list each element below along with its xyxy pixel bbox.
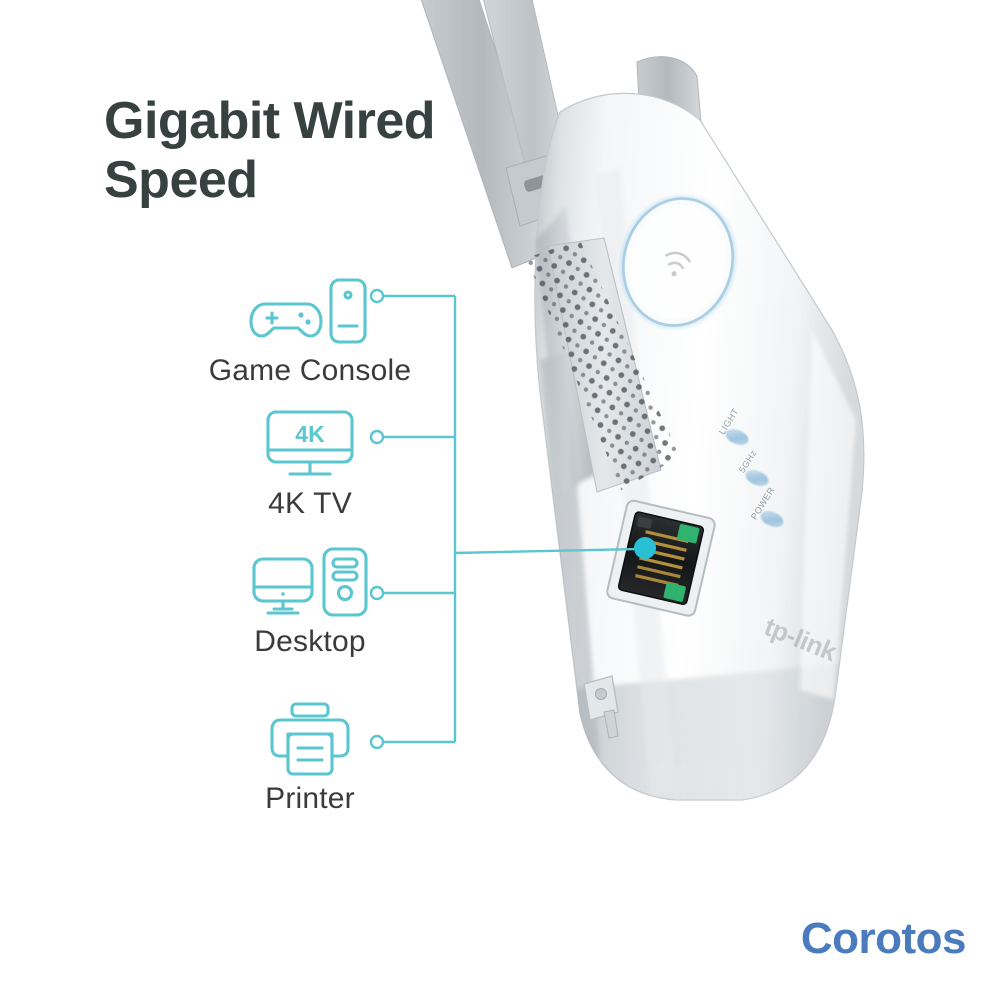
tv-screen-text: 4K [295, 421, 325, 447]
device-item-desktop: Desktop [180, 543, 440, 659]
game-console-icon [180, 272, 440, 350]
device-item-4k-tv: 4K 4K TV [180, 405, 440, 521]
product-marketing-image: LIGHT 5GHz POWER [0, 0, 990, 990]
printer-icon [180, 700, 440, 778]
device-label-4k-tv: 4K TV [180, 487, 440, 521]
watermark-corotos: Corotos [801, 914, 966, 964]
desktop-icon [180, 543, 440, 621]
device-label-game-console: Game Console [180, 354, 440, 388]
device-label-desktop: Desktop [180, 625, 440, 659]
device-label-printer: Printer [180, 782, 440, 816]
tv-icon: 4K [180, 405, 440, 483]
device-item-printer: Printer [180, 700, 440, 816]
page-title: Gigabit Wired Speed [104, 92, 524, 210]
device-item-game-console: Game Console [180, 272, 440, 388]
